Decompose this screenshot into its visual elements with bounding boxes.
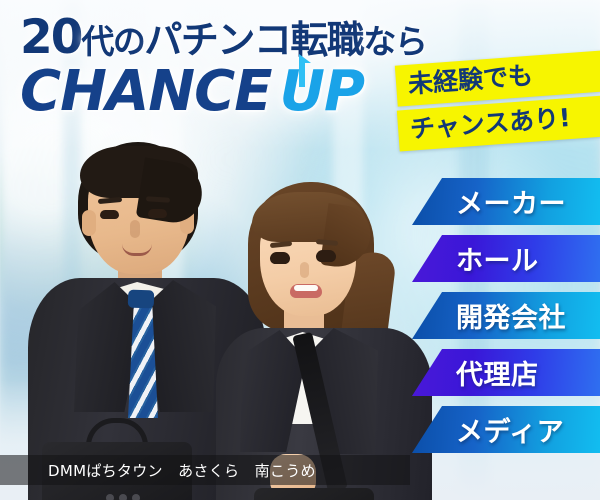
headline-keyword: パチンコ転職 [144, 18, 363, 62]
headline-age-number: 20 [20, 10, 81, 65]
category-label-agency: 代理店 [456, 349, 539, 396]
woman-handbag [254, 488, 374, 500]
promo-badges: 未経験でも チャンスあり! [396, 58, 600, 144]
category-label-maker: メーカー [456, 178, 566, 225]
headline-line-1: 20代のパチンコ転職なら [20, 14, 426, 62]
logo-word-up: UP [280, 64, 365, 120]
category-button-media[interactable]: メディア [412, 406, 600, 453]
headline-line-1-tail: なら [363, 22, 426, 61]
category-label-hall: ホール [456, 235, 539, 282]
category-list: メーカー ホール 開発会社 代理店 メディア [0, 178, 600, 463]
category-button-agency[interactable]: 代理店 [412, 349, 600, 396]
credit-bar: DMMぱちタウン あさくら 南こうめ [0, 455, 410, 485]
category-label-development-company: 開発会社 [456, 292, 566, 339]
headline-line-2: CHANCEUP [20, 64, 426, 120]
logo-word-chance: CHANCE [20, 59, 272, 124]
headline-block: 20代のパチンコ転職なら CHANCEUP [20, 14, 426, 120]
man-briefcase-studs [106, 494, 140, 500]
headline-age-suffix: 代の [81, 22, 144, 61]
credit-text: DMMぱちタウン あさくら 南こうめ [0, 460, 316, 481]
category-label-media: メディア [456, 406, 564, 453]
category-button-hall[interactable]: ホール [412, 235, 600, 282]
category-button-maker[interactable]: メーカー [412, 178, 600, 225]
category-button-development-company[interactable]: 開発会社 [412, 292, 600, 339]
recruitment-banner: 20代のパチンコ転職なら CHANCEUP 未経験でも チャンスあり! メーカー… [0, 0, 600, 500]
